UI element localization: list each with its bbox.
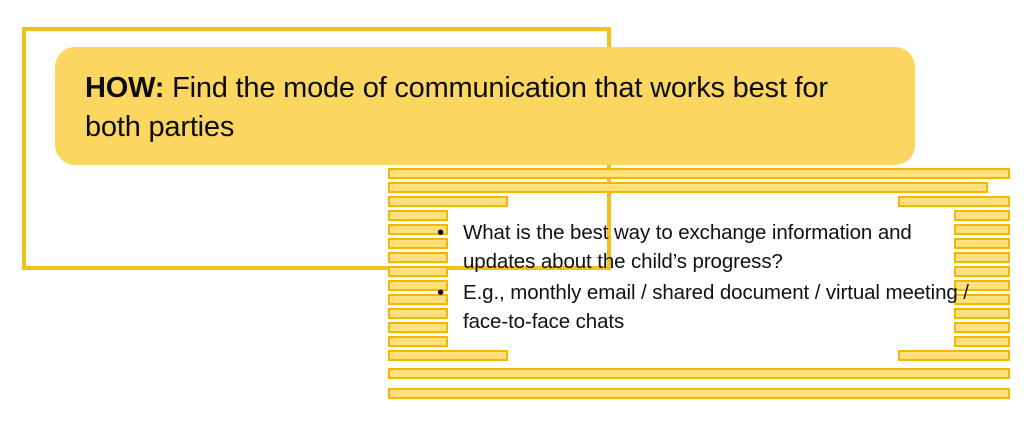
stripe-bar-left — [388, 350, 508, 361]
stripe-row — [388, 368, 1010, 379]
stripe-row — [388, 182, 1010, 193]
list-item-text: What is the best way to exchange informa… — [463, 221, 912, 273]
stripe-row — [388, 196, 1010, 207]
stripe-row — [388, 350, 1010, 361]
list-item-text: E.g., monthly email / shared document / … — [463, 281, 969, 333]
stripe-bar-left — [388, 388, 1010, 399]
title-banner: HOW: Find the mode of communication that… — [55, 47, 915, 165]
stripe-row — [388, 388, 1010, 399]
bullet-content-panel: •What is the best way to exchange inform… — [425, 218, 985, 338]
bullet-list: •What is the best way to exchange inform… — [425, 218, 985, 336]
stripe-bar-right — [898, 350, 1010, 361]
title-lead-label: HOW: — [85, 72, 164, 104]
title-body-text: Find the mode of communication that work… — [85, 72, 828, 143]
list-item: •E.g., monthly email / shared document /… — [425, 278, 985, 336]
bullet-dot-icon: • — [437, 218, 444, 247]
bullet-dot-icon: • — [437, 278, 444, 307]
page-title: HOW: Find the mode of communication that… — [85, 69, 885, 147]
stripe-bar-left — [388, 182, 988, 193]
stripe-bar-left — [388, 196, 508, 207]
stripe-row — [388, 168, 1010, 179]
stripe-bar-right — [898, 196, 1010, 207]
stripe-bar-left — [388, 168, 1010, 179]
stripe-bar-left — [388, 368, 1010, 379]
list-item: •What is the best way to exchange inform… — [425, 218, 985, 276]
